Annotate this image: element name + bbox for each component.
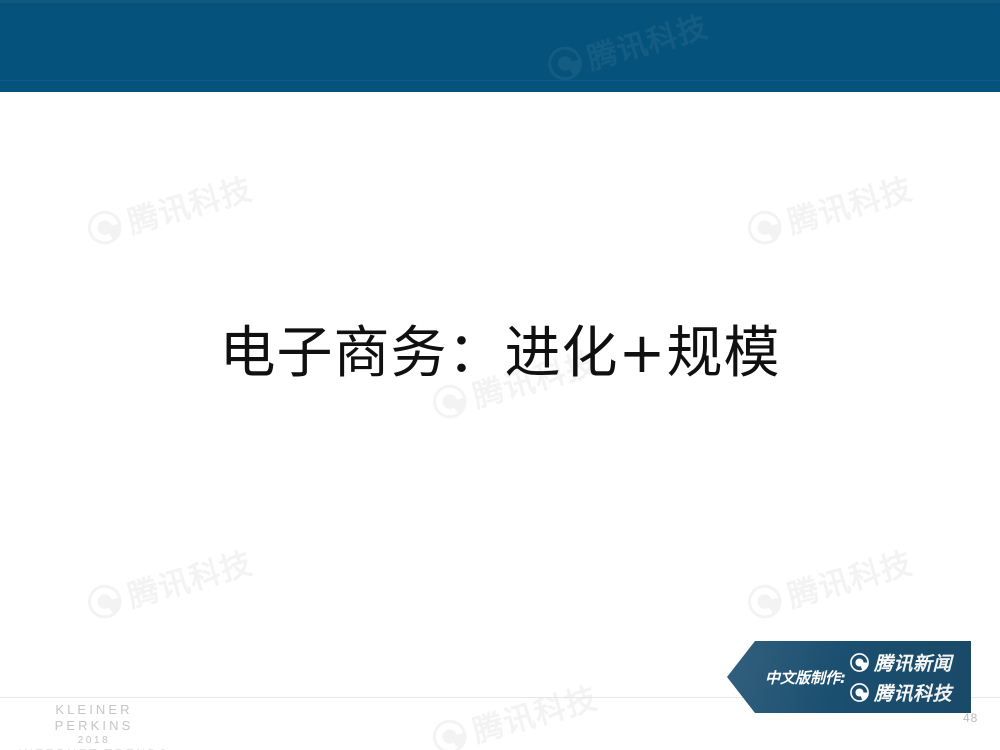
tencent-circle-logo-icon <box>850 653 869 672</box>
tencent-circle-logo-icon <box>544 42 586 84</box>
kleiner-perkins-name: KLEINER PERKINS <box>14 702 174 734</box>
page-watermark: 腾讯科技 <box>742 164 917 254</box>
tencent-circle-logo-icon <box>850 683 869 702</box>
slide-header-band: 腾讯科技 <box>0 0 1000 92</box>
page-watermark-text: 腾讯科技 <box>781 538 916 617</box>
page-watermark: 腾讯科技 <box>82 164 257 254</box>
page-title: 电子商务：进化+规模 <box>220 323 781 386</box>
page-watermark-text: 腾讯科技 <box>466 673 601 750</box>
header-band-inner-line <box>0 80 1000 81</box>
page-watermark: 腾讯科技 <box>82 538 257 628</box>
slide-title-container: 电子商务：进化+规模 <box>0 285 1000 423</box>
credit-brand-name: 腾讯新闻 <box>874 649 952 676</box>
kleiner-perkins-year: 2018 <box>14 734 174 747</box>
tencent-circle-logo-icon <box>744 206 786 248</box>
credit-brand-item: 腾讯新闻 <box>850 649 952 676</box>
page-watermark: 腾讯科技 <box>427 673 602 750</box>
page-number: 48 <box>963 711 978 725</box>
credit-brand-item: 腾讯科技 <box>850 679 952 706</box>
tencent-circle-logo-icon <box>429 715 471 750</box>
translation-credit-badge: 中文版制作: 腾讯新闻 腾讯科技 <box>727 641 971 713</box>
page-watermark-text: 腾讯科技 <box>121 164 256 243</box>
tencent-circle-logo-icon <box>84 580 126 622</box>
page-watermark-text: 腾讯科技 <box>121 538 256 617</box>
page-watermark: 腾讯科技 <box>742 538 917 628</box>
header-band-top-edge <box>0 0 1000 3</box>
header-watermark-text: 腾讯科技 <box>581 2 712 78</box>
credit-prefix-label: 中文版制作: <box>765 667 846 688</box>
tencent-circle-logo-icon <box>84 206 126 248</box>
kleiner-perkins-logo: KLEINER PERKINS 2018 INTERNET TRENDS <box>14 702 174 750</box>
tencent-circle-logo-icon <box>744 580 786 622</box>
credit-brand-name: 腾讯科技 <box>874 679 952 706</box>
presentation-slide: 腾讯科技 腾讯科技 腾讯科技 腾讯科技 腾讯科技 <box>0 0 1000 750</box>
credit-brand-list: 腾讯新闻 腾讯科技 <box>850 649 952 706</box>
page-watermark-text: 腾讯科技 <box>781 164 916 243</box>
